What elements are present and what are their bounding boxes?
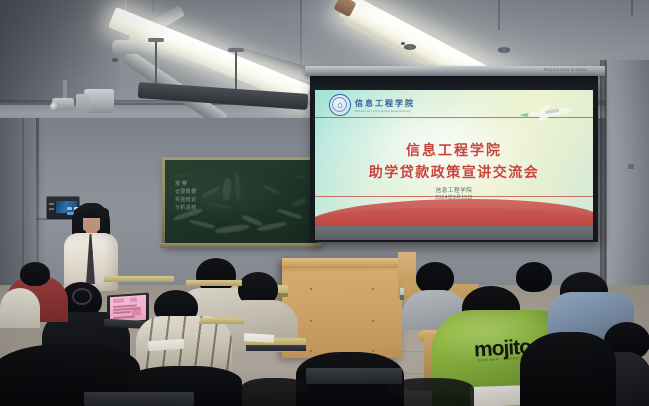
light-rod (498, 0, 500, 30)
student-head (196, 258, 236, 292)
logo-text-en: School of Information Engineering (355, 110, 415, 113)
wall-pillar (606, 60, 649, 290)
wall-pillar-edge (604, 60, 607, 290)
light-rod (152, 0, 154, 12)
slide-wave-front (315, 199, 593, 226)
presentation-slide: ⌂ 信息工程学院 School of Information Engineeri… (315, 90, 593, 226)
chalk-text: 记录数据 (175, 190, 197, 196)
chalk-text: 分析总结 (175, 206, 197, 212)
light-rod (235, 50, 237, 90)
screen-top-border (310, 76, 598, 90)
student-desk (306, 368, 402, 384)
panel-label (49, 208, 54, 210)
classroom-photo: 观 察 记录数据 实验结论 分析总结 PROJECTION SCREEN ⌂ 信… (0, 0, 649, 406)
slide-subtitle: 信息工程学院 (315, 186, 593, 194)
foreground-head (240, 378, 310, 406)
student-head (20, 262, 50, 286)
light-rod (631, 0, 633, 16)
projector-mount (76, 94, 90, 112)
chalk-tray (160, 243, 322, 248)
chalkboard: 观 察 记录数据 实验结论 分析总结 (165, 160, 317, 243)
panel-indicator (67, 207, 72, 210)
student-body (0, 288, 40, 328)
light-mount (148, 38, 164, 42)
chalk-text: 实验结论 (175, 198, 197, 204)
projector-lens-icon (50, 102, 59, 111)
wall-column-seam (22, 118, 24, 286)
podium-top (282, 258, 402, 268)
foreground-head (520, 332, 616, 406)
student-desk (200, 318, 244, 324)
projection-screen: ⌂ 信息工程学院 School of Information Engineeri… (310, 76, 598, 242)
paper-sheet (244, 333, 274, 343)
slide-title-line1: 信息工程学院 (315, 140, 593, 160)
slide-title-line2: 助学贷款政策宣讲交流会 (315, 162, 593, 182)
logo-glyph: ⌂ (335, 100, 346, 111)
housing-label: PROJECTION SCREEN (544, 68, 587, 72)
screen-bottom-border (315, 226, 593, 240)
ceiling-speaker (404, 44, 416, 50)
airplane-icon (515, 102, 577, 122)
wall-socket (628, 164, 634, 169)
student-desk (84, 392, 194, 406)
student-desk-edge (246, 345, 306, 351)
ceiling-fitting (112, 58, 118, 62)
logo-text-cn: 信息工程学院 (355, 98, 415, 109)
light-mount (228, 48, 244, 52)
hair-clip-icon (72, 288, 92, 305)
panel-label (49, 203, 54, 205)
student-head (516, 262, 552, 292)
laptop-screen (110, 295, 146, 323)
institution-logo: ⌂ 信息工程学院 School of Information Engineeri… (329, 94, 415, 116)
ceiling-fan-hub (112, 40, 140, 54)
projector-screen-housing: PROJECTION SCREEN (305, 66, 605, 76)
student-desk (186, 280, 242, 286)
logo-emblem-icon: ⌂ (329, 94, 351, 116)
chalk-text: 观 察 (175, 182, 187, 188)
student-desk (104, 276, 174, 282)
logo-text-block: 信息工程学院 School of Information Engineering (355, 98, 415, 113)
ceiling-speaker (498, 47, 510, 53)
